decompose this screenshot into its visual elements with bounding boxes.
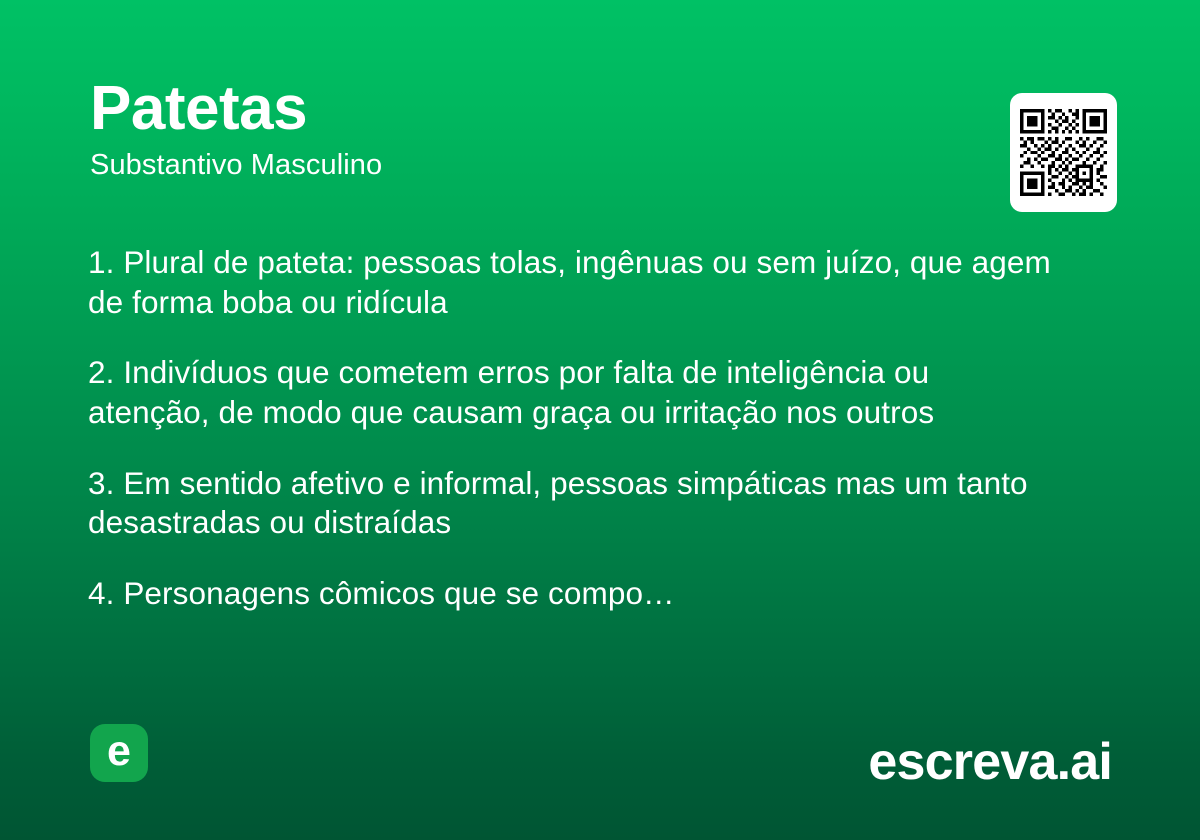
brand-logo-badge: e xyxy=(90,724,148,782)
definitions-list: 1. Plural de pateta: pessoas tolas, ingê… xyxy=(88,243,1053,614)
card-header: Patetas Substantivo Masculino xyxy=(90,78,1110,182)
definition-item: 3. Em sentido afetivo e informal, pessoa… xyxy=(88,464,1053,543)
brand-wordmark: escreva.ai xyxy=(868,736,1112,788)
definition-item: 4. Personagens cômicos que se compo… xyxy=(88,574,1053,614)
card-footer: e escreva.ai xyxy=(0,680,1200,840)
brand-logo-glyph: e xyxy=(107,730,131,773)
qr-code-icon xyxy=(1020,109,1107,196)
definition-card: Patetas Substantivo Masculino xyxy=(0,0,1200,840)
word-class-subtitle: Substantivo Masculino xyxy=(90,150,1110,182)
definition-item: 1. Plural de pateta: pessoas tolas, ingê… xyxy=(88,243,1053,322)
page-title: Patetas xyxy=(90,78,1110,140)
definition-item: 2. Indivíduos que cometem erros por falt… xyxy=(88,353,1053,432)
qr-code[interactable] xyxy=(1010,93,1117,212)
